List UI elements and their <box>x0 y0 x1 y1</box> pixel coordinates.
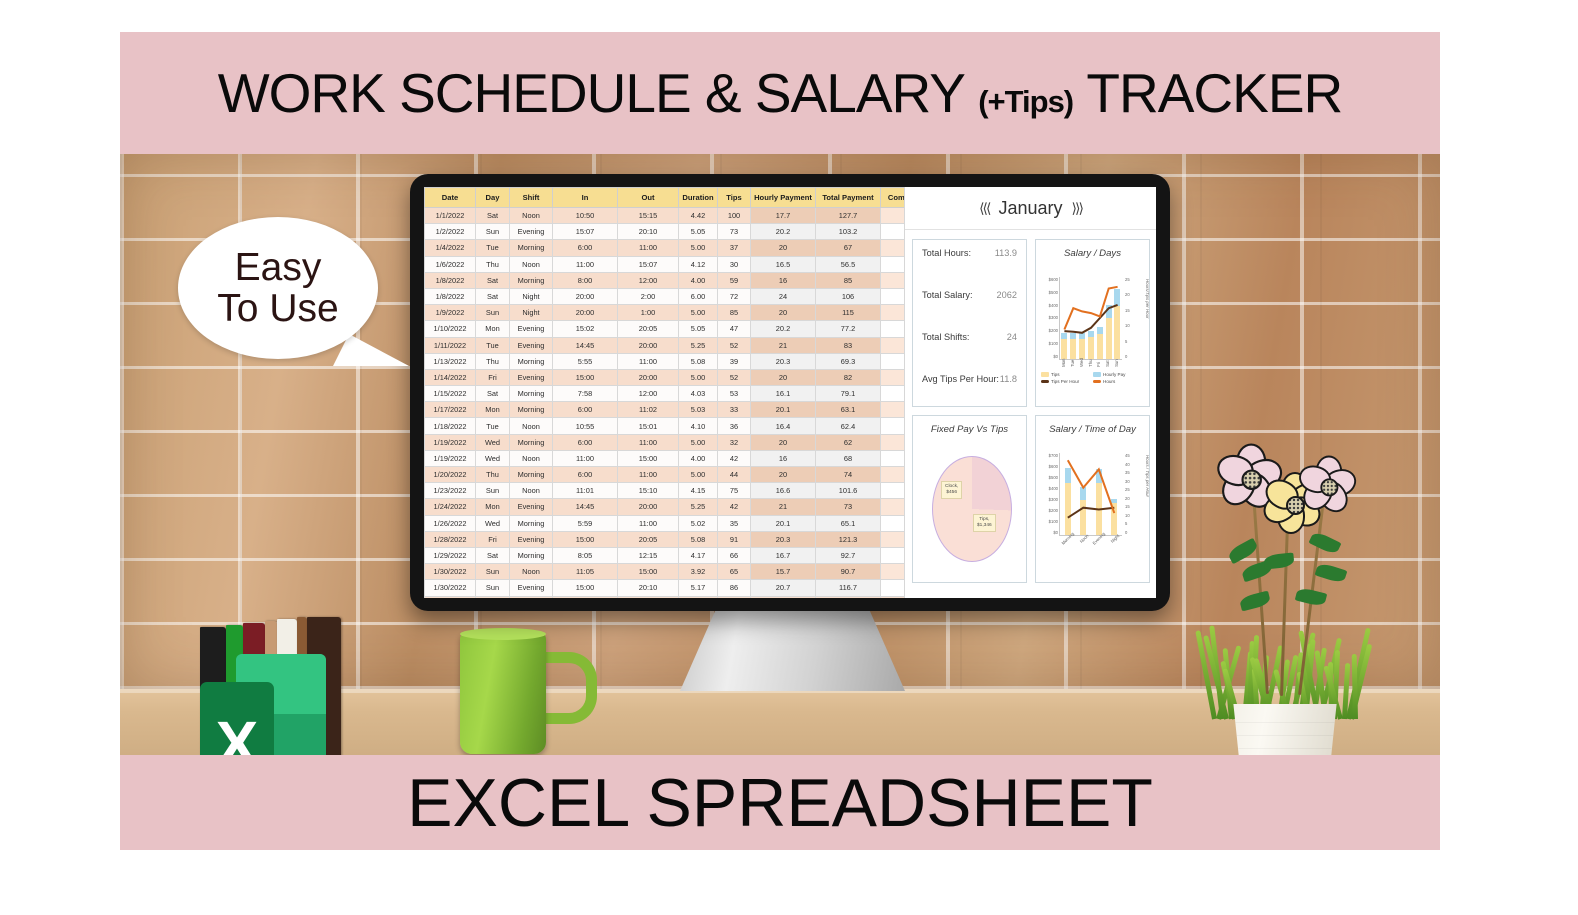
cell-in[interactable]: 14:45 <box>553 499 618 515</box>
cell-date[interactable]: 1/15/2022 <box>425 386 476 402</box>
cell-total-payment[interactable]: 69.3 <box>816 353 881 369</box>
cell-date[interactable]: 1/8/2022 <box>425 288 476 304</box>
table-row[interactable]: 1/20/2022ThuMorning6:0011:005.00442074 <box>425 467 935 483</box>
y2-tick: 15 <box>1125 504 1130 509</box>
cell-in[interactable]: 6:00 <box>553 240 618 256</box>
cell-shift[interactable]: Morning <box>510 467 553 483</box>
line-series <box>1060 453 1122 535</box>
legend-label: Hours <box>1103 379 1115 384</box>
cell-tips[interactable]: 42 <box>718 450 751 466</box>
cell-duration[interactable]: 4.10 <box>679 418 718 434</box>
table-row[interactable]: 1/26/2022WedMorning5:5911:005.023520.165… <box>425 515 935 531</box>
cell-date[interactable]: 1/10/2022 <box>425 321 476 337</box>
footer-cell[interactable]: 0 <box>718 596 751 598</box>
cell-duration[interactable]: 5.25 <box>679 337 718 353</box>
table-row[interactable]: 1/8/2022SatNight20:002:006.007224106 <box>425 288 935 304</box>
cell-hourly-payment[interactable]: 16.4 <box>751 418 816 434</box>
cell-day[interactable]: Sat <box>476 288 510 304</box>
cell-total-payment[interactable]: 56.5 <box>816 256 881 272</box>
cell-shift[interactable]: Noon <box>510 450 553 466</box>
cell-duration[interactable]: 6.00 <box>679 288 718 304</box>
cell-hourly-payment[interactable]: 16.7 <box>751 547 816 563</box>
x-tick: Sat <box>1105 358 1110 367</box>
cell-tips[interactable]: 33 <box>718 402 751 418</box>
cell-in[interactable]: 20:00 <box>553 288 618 304</box>
cell-in[interactable]: 11:00 <box>553 256 618 272</box>
cell-hourly-payment[interactable]: 17.7 <box>751 208 816 224</box>
cell-tips[interactable]: 59 <box>718 272 751 288</box>
footer-cell[interactable]: 0 <box>816 596 881 598</box>
table-row[interactable]: 1/29/2022SatMorning8:0512:154.176616.792… <box>425 547 935 563</box>
stat-total-shifts: Total Shifts: 24 <box>913 332 1026 374</box>
cell-shift[interactable]: Evening <box>510 580 553 596</box>
cell-date[interactable]: 1/2/2022 <box>425 224 476 240</box>
cell-day[interactable]: Sun <box>476 305 510 321</box>
cell-date[interactable]: 1/30/2022 <box>425 564 476 580</box>
cell-in[interactable]: 8:05 <box>553 547 618 563</box>
y-tick: $0 <box>1053 354 1058 359</box>
cell-shift[interactable]: Morning <box>510 402 553 418</box>
next-month-icon[interactable]: ⟩⟩⟩ <box>1072 200 1082 217</box>
cell-total-payment[interactable]: 73 <box>816 499 881 515</box>
cell-date[interactable]: 1/24/2022 <box>425 499 476 515</box>
cell-tips[interactable]: 37 <box>718 240 751 256</box>
cell-date[interactable]: 1/17/2022 <box>425 402 476 418</box>
cell-date[interactable]: 1/30/2022 <box>425 580 476 596</box>
cell-total-payment[interactable]: 82 <box>816 369 881 385</box>
cell-hourly-payment[interactable]: 15.7 <box>751 564 816 580</box>
footer-cell[interactable] <box>425 596 476 598</box>
cell-total-payment[interactable]: 85 <box>816 272 881 288</box>
cell-out[interactable]: 2:00 <box>618 288 679 304</box>
cell-date[interactable]: 1/4/2022 <box>425 240 476 256</box>
cell-shift[interactable]: Morning <box>510 240 553 256</box>
cell-out[interactable]: 11:00 <box>618 467 679 483</box>
cell-date[interactable]: 1/19/2022 <box>425 434 476 450</box>
cell-duration[interactable]: 3.92 <box>679 564 718 580</box>
cell-in[interactable]: 8:00 <box>553 272 618 288</box>
cell-hourly-payment[interactable]: 24 <box>751 288 816 304</box>
cell-out[interactable]: 12:00 <box>618 272 679 288</box>
cell-hourly-payment[interactable]: 20 <box>751 305 816 321</box>
cell-total-payment[interactable]: 127.7 <box>816 208 881 224</box>
cell-duration[interactable]: 5.05 <box>679 224 718 240</box>
cell-tips[interactable]: 52 <box>718 369 751 385</box>
mug-rim <box>460 628 546 640</box>
cell-out[interactable]: 12:15 <box>618 547 679 563</box>
cell-duration[interactable]: 5.08 <box>679 531 718 547</box>
y-tick: $500 <box>1049 290 1058 295</box>
stat-label: Total Shifts: <box>922 332 970 342</box>
y-tick: $400 <box>1049 486 1058 491</box>
cell-in[interactable]: 15:07 <box>553 224 618 240</box>
cell-in[interactable]: 20:00 <box>553 305 618 321</box>
cell-total-payment[interactable]: 101.6 <box>816 483 881 499</box>
cell-out[interactable]: 20:10 <box>618 580 679 596</box>
legend-item: Hours <box>1093 379 1141 384</box>
cell-duration[interactable]: 4.42 <box>679 208 718 224</box>
cell-out[interactable]: 20:00 <box>618 337 679 353</box>
y-tick: $100 <box>1049 519 1058 524</box>
cell-total-payment[interactable]: 103.2 <box>816 224 881 240</box>
cell-hourly-payment[interactable]: 16 <box>751 450 816 466</box>
cell-shift[interactable]: Evening <box>510 337 553 353</box>
cell-duration[interactable]: 5.08 <box>679 353 718 369</box>
cell-shift[interactable]: Morning <box>510 547 553 563</box>
cell-in[interactable]: 15:00 <box>553 369 618 385</box>
cell-date[interactable]: 1/8/2022 <box>425 272 476 288</box>
cell-total-payment[interactable]: 62 <box>816 434 881 450</box>
cell-day[interactable]: Sun <box>476 580 510 596</box>
footer-cell[interactable]: Fill Date <box>476 596 510 598</box>
excel-logo: X <box>200 654 326 755</box>
table-row[interactable]: 1/14/2022FriEvening15:0020:005.00522082 <box>425 369 935 385</box>
cell-duration[interactable]: 4.15 <box>679 483 718 499</box>
cell-total-payment[interactable]: 67 <box>816 240 881 256</box>
spreadsheet-grid[interactable]: Date Day Shift In Out Duration Tips Hour… <box>424 187 904 598</box>
cell-in[interactable]: 6:00 <box>553 434 618 450</box>
cell-shift[interactable]: Night <box>510 305 553 321</box>
cell-total-payment[interactable]: 92.7 <box>816 547 881 563</box>
plot-area <box>1059 277 1122 360</box>
table-row[interactable]: 1/30/2022SunEvening15:0020:105.178620.71… <box>425 580 935 596</box>
footer-cell[interactable] <box>618 596 679 598</box>
cell-day[interactable]: Wed <box>476 515 510 531</box>
cell-date[interactable]: 1/28/2022 <box>425 531 476 547</box>
cell-hourly-payment[interactable]: 21 <box>751 337 816 353</box>
cell-duration[interactable]: 5.03 <box>679 402 718 418</box>
cell-in[interactable]: 11:00 <box>553 450 618 466</box>
cell-hourly-payment[interactable]: 21 <box>751 499 816 515</box>
col-shift[interactable]: Shift <box>510 188 553 208</box>
table-row[interactable]: 1/1/2022SatNoon10:5015:154.4210017.7127.… <box>425 208 935 224</box>
cell-hourly-payment[interactable]: 20.3 <box>751 353 816 369</box>
cell-tips[interactable]: 42 <box>718 499 751 515</box>
cell-day[interactable]: Thu <box>476 467 510 483</box>
cell-in[interactable]: 5:55 <box>553 353 618 369</box>
cell-hourly-payment[interactable]: 20 <box>751 467 816 483</box>
cell-hourly-payment[interactable]: 20.2 <box>751 224 816 240</box>
table-row[interactable]: 1/9/2022SunNight20:001:005.008520115 <box>425 305 935 321</box>
cell-date[interactable]: 1/14/2022 <box>425 369 476 385</box>
cell-out[interactable]: 11:00 <box>618 434 679 450</box>
table-row[interactable]: 1/28/2022FriEvening15:0020:055.089120.31… <box>425 531 935 547</box>
cell-duration[interactable]: 5.02 <box>679 515 718 531</box>
cell-in[interactable]: 15:02 <box>553 321 618 337</box>
table-row[interactable]: 1/10/2022MonEvening15:0220:055.054720.27… <box>425 321 935 337</box>
footer-cell[interactable]: 0 <box>751 596 816 598</box>
cell-shift[interactable]: Evening <box>510 531 553 547</box>
cell-out[interactable]: 15:00 <box>618 450 679 466</box>
cell-total-payment[interactable]: 83 <box>816 337 881 353</box>
cell-hourly-payment[interactable]: 16.1 <box>751 386 816 402</box>
cell-shift[interactable]: Evening <box>510 369 553 385</box>
cell-hourly-payment[interactable]: 20 <box>751 369 816 385</box>
cell-in[interactable]: 7:58 <box>553 386 618 402</box>
legend-swatch <box>1041 372 1049 377</box>
legend-label: Tips Per Hour <box>1051 379 1079 384</box>
cell-shift[interactable]: Noon <box>510 208 553 224</box>
cell-day[interactable]: Tue <box>476 240 510 256</box>
cell-total-payment[interactable]: 79.1 <box>816 386 881 402</box>
bottom-banner: EXCEL SPREADSHEET <box>120 755 1440 850</box>
cell-total-payment[interactable]: 63.1 <box>816 402 881 418</box>
cell-tips[interactable]: 66 <box>718 547 751 563</box>
cell-date[interactable]: 1/1/2022 <box>425 208 476 224</box>
cell-shift[interactable]: Morning <box>510 353 553 369</box>
table-row[interactable]: 1/17/2022MonMorning6:0011:025.033320.163… <box>425 402 935 418</box>
y-tick: $100 <box>1049 341 1058 346</box>
table-body[interactable]: 1/1/2022SatNoon10:5015:154.4210017.7127.… <box>425 208 935 599</box>
col-hourly-payment[interactable]: Hourly Payment <box>751 188 816 208</box>
cell-hourly-payment[interactable]: 20.1 <box>751 515 816 531</box>
cell-date[interactable]: 1/20/2022 <box>425 467 476 483</box>
cell-shift[interactable]: Noon <box>510 564 553 580</box>
cell-shift[interactable]: Evening <box>510 499 553 515</box>
y-tick: $300 <box>1049 315 1058 320</box>
cell-hourly-payment[interactable]: 16.6 <box>751 483 816 499</box>
easy-to-use-badge: Easy To Use <box>178 217 378 359</box>
cell-day[interactable]: Thu <box>476 353 510 369</box>
pie-chart: Clock,$456 Tips,$1,346 <box>913 435 1027 565</box>
cell-day[interactable]: Sat <box>476 272 510 288</box>
cell-out[interactable]: 20:10 <box>618 224 679 240</box>
col-in[interactable]: In <box>553 188 618 208</box>
cell-day[interactable]: Fri <box>476 531 510 547</box>
line-series <box>1060 277 1122 359</box>
cell-out[interactable]: 11:00 <box>618 353 679 369</box>
cell-in[interactable]: 5:59 <box>553 515 618 531</box>
cell-shift[interactable]: Morning <box>510 386 553 402</box>
cell-shift[interactable]: Noon <box>510 483 553 499</box>
cell-out[interactable]: 15:15 <box>618 208 679 224</box>
cell-out[interactable]: 20:05 <box>618 531 679 547</box>
cell-date[interactable]: 1/29/2022 <box>425 547 476 563</box>
col-tips[interactable]: Tips <box>718 188 751 208</box>
cell-total-payment[interactable]: 65.1 <box>816 515 881 531</box>
salary-days-chart-card: Salary / Days $600$500$400$300$200$100$0… <box>1035 239 1150 407</box>
badge-line-2: To Use <box>217 288 338 329</box>
cell-hourly-payment[interactable]: 20 <box>751 240 816 256</box>
col-day[interactable]: Day <box>476 188 510 208</box>
cell-date[interactable]: 1/19/2022 <box>425 450 476 466</box>
cell-duration[interactable]: 5.00 <box>679 369 718 385</box>
cell-day[interactable]: Mon <box>476 321 510 337</box>
cell-tips[interactable]: 91 <box>718 531 751 547</box>
cell-out[interactable]: 20:05 <box>618 321 679 337</box>
cell-date[interactable]: 1/23/2022 <box>425 483 476 499</box>
cell-tips[interactable]: 72 <box>718 288 751 304</box>
cell-shift[interactable]: Morning <box>510 515 553 531</box>
cell-out[interactable]: 20:00 <box>618 369 679 385</box>
cell-in[interactable]: 15:00 <box>553 531 618 547</box>
cell-duration[interactable]: 5.17 <box>679 580 718 596</box>
table-row[interactable]: 1/30/2022SunNoon11:0515:003.926515.790.7 <box>425 564 935 580</box>
table-row[interactable]: 1/6/2022ThuNoon11:0015:074.123016.556.5 <box>425 256 935 272</box>
cell-tips[interactable]: 53 <box>718 386 751 402</box>
monitor: Date Day Shift In Out Duration Tips Hour… <box>410 174 1170 611</box>
table-row[interactable]: 1/8/2022SatMorning8:0012:004.00591685 <box>425 272 935 288</box>
cell-in[interactable]: 6:00 <box>553 467 618 483</box>
col-total-payment[interactable]: Total Payment <box>816 188 881 208</box>
table-row[interactable]: 1/4/2022TueMorning6:0011:005.00372067 <box>425 240 935 256</box>
table-row[interactable]: 1/11/2022TueEvening14:4520:005.25522183 <box>425 337 935 353</box>
cell-tips[interactable]: 100 <box>718 208 751 224</box>
cell-tips[interactable]: 86 <box>718 580 751 596</box>
cell-in[interactable]: 11:01 <box>553 483 618 499</box>
cell-out[interactable]: 15:00 <box>618 564 679 580</box>
col-out[interactable]: Out <box>618 188 679 208</box>
y2-tick: 45 <box>1125 453 1130 458</box>
cell-tips[interactable]: 85 <box>718 305 751 321</box>
cell-hourly-payment[interactable]: 20.2 <box>751 321 816 337</box>
cell-out[interactable]: 11:00 <box>618 240 679 256</box>
cell-day[interactable]: Sat <box>476 547 510 563</box>
col-duration[interactable]: Duration <box>679 188 718 208</box>
cell-total-payment[interactable]: 77.2 <box>816 321 881 337</box>
table-row[interactable]: 1/18/2022TueNoon10:5515:014.103616.462.4 <box>425 418 935 434</box>
cell-duration[interactable]: 5.00 <box>679 240 718 256</box>
cell-tips[interactable]: 47 <box>718 321 751 337</box>
cell-in[interactable]: 14:45 <box>553 337 618 353</box>
dashboard-panel: ⟨⟨⟨ January ⟩⟩⟩ Total Hours: 113.9 <box>904 187 1156 598</box>
cell-duration[interactable]: 4.12 <box>679 256 718 272</box>
cell-day[interactable]: Thu <box>476 256 510 272</box>
cell-total-payment[interactable]: 90.7 <box>816 564 881 580</box>
table-row[interactable]: 1/15/2022SatMorning7:5812:004.035316.179… <box>425 386 935 402</box>
cell-duration[interactable]: 5.00 <box>679 434 718 450</box>
cell-total-payment[interactable]: 68 <box>816 450 881 466</box>
footer-cell[interactable] <box>553 596 618 598</box>
cell-total-payment[interactable]: 116.7 <box>816 580 881 596</box>
cell-out[interactable]: 20:00 <box>618 499 679 515</box>
cell-day[interactable]: Tue <box>476 418 510 434</box>
cell-hourly-payment[interactable]: 16 <box>751 272 816 288</box>
fill-date-row[interactable]: Fill Date0.00000 <box>425 596 935 598</box>
cell-day[interactable]: Mon <box>476 499 510 515</box>
cell-tips[interactable]: 44 <box>718 467 751 483</box>
cell-duration[interactable]: 5.00 <box>679 467 718 483</box>
schedule-table[interactable]: Date Day Shift In Out Duration Tips Hour… <box>424 187 935 598</box>
cell-duration[interactable]: 4.17 <box>679 547 718 563</box>
cell-out[interactable]: 15:01 <box>618 418 679 434</box>
cell-shift[interactable]: Morning <box>510 272 553 288</box>
cell-date[interactable]: 1/9/2022 <box>425 305 476 321</box>
cell-day[interactable]: Tue <box>476 337 510 353</box>
cell-in[interactable]: 10:55 <box>553 418 618 434</box>
cell-date[interactable]: 1/26/2022 <box>425 515 476 531</box>
cell-shift[interactable]: Noon <box>510 418 553 434</box>
footer-cell[interactable]: 0.00 <box>679 596 718 598</box>
cell-total-payment[interactable]: 115 <box>816 305 881 321</box>
cell-day[interactable]: Wed <box>476 450 510 466</box>
cell-tips[interactable]: 52 <box>718 337 751 353</box>
cell-tips[interactable]: 65 <box>718 564 751 580</box>
cell-out[interactable]: 15:07 <box>618 256 679 272</box>
stat-avg-tips-per-hour: Avg Tips Per Hour: 11.8 <box>913 374 1026 407</box>
product-listing-image: WORK SCHEDULE & SALARY (+Tips) TRACKER <box>0 0 1578 915</box>
cell-duration[interactable]: 4.00 <box>679 272 718 288</box>
cell-shift[interactable]: Morning <box>510 434 553 450</box>
cell-day[interactable]: Sat <box>476 208 510 224</box>
cell-tips[interactable]: 32 <box>718 434 751 450</box>
cell-day[interactable]: Mon <box>476 402 510 418</box>
cell-shift[interactable]: Night <box>510 288 553 304</box>
col-date[interactable]: Date <box>425 188 476 208</box>
cell-hourly-payment[interactable]: 20.3 <box>751 531 816 547</box>
cell-day[interactable]: Sat <box>476 386 510 402</box>
cell-hourly-payment[interactable]: 20 <box>751 434 816 450</box>
stat-total-hours: Total Hours: 113.9 <box>913 248 1026 290</box>
table-row[interactable]: 1/2/2022SunEvening15:0720:105.057320.210… <box>425 224 935 240</box>
cell-out[interactable]: 11:02 <box>618 402 679 418</box>
table-row[interactable]: 1/23/2022SunNoon11:0115:104.157516.6101.… <box>425 483 935 499</box>
cell-day[interactable]: Sun <box>476 224 510 240</box>
x-tick: Wed <box>1079 358 1084 367</box>
cell-duration[interactable]: 5.00 <box>679 305 718 321</box>
cell-total-payment[interactable]: 74 <box>816 467 881 483</box>
cell-in[interactable]: 6:00 <box>553 402 618 418</box>
cell-tips[interactable]: 36 <box>718 418 751 434</box>
cell-day[interactable]: Fri <box>476 369 510 385</box>
cell-in[interactable]: 11:05 <box>553 564 618 580</box>
cell-in[interactable]: 10:50 <box>553 208 618 224</box>
cell-tips[interactable]: 35 <box>718 515 751 531</box>
cell-duration[interactable]: 5.05 <box>679 321 718 337</box>
cell-date[interactable]: 1/13/2022 <box>425 353 476 369</box>
cell-hourly-payment[interactable]: 20.7 <box>751 580 816 596</box>
cell-tips[interactable]: 39 <box>718 353 751 369</box>
cell-duration[interactable]: 4.03 <box>679 386 718 402</box>
cell-tips[interactable]: 30 <box>718 256 751 272</box>
cell-shift[interactable]: Noon <box>510 256 553 272</box>
cell-in[interactable]: 15:00 <box>553 580 618 596</box>
title-sub: (+Tips) <box>978 84 1073 119</box>
cell-total-payment[interactable]: 121.3 <box>816 531 881 547</box>
cell-day[interactable]: Sun <box>476 483 510 499</box>
table-row[interactable]: 1/19/2022WedNoon11:0015:004.00421668 <box>425 450 935 466</box>
cell-total-payment[interactable]: 106 <box>816 288 881 304</box>
table-row[interactable]: 1/24/2022MonEvening14:4520:005.25422173 <box>425 499 935 515</box>
cell-date[interactable]: 1/11/2022 <box>425 337 476 353</box>
cell-hourly-payment[interactable]: 20.1 <box>751 402 816 418</box>
badge-line-1: Easy <box>235 247 322 288</box>
cell-hourly-payment[interactable]: 16.5 <box>751 256 816 272</box>
cell-shift[interactable]: Evening <box>510 321 553 337</box>
cell-date[interactable]: 1/18/2022 <box>425 418 476 434</box>
cell-shift[interactable]: Evening <box>510 224 553 240</box>
cell-total-payment[interactable]: 62.4 <box>816 418 881 434</box>
x-tick: Sun <box>1114 358 1119 367</box>
cell-out[interactable]: 1:00 <box>618 305 679 321</box>
cell-out[interactable]: 11:00 <box>618 515 679 531</box>
cell-day[interactable]: Wed <box>476 434 510 450</box>
table-row[interactable]: 1/19/2022WedMorning6:0011:005.00322062 <box>425 434 935 450</box>
cell-tips[interactable]: 73 <box>718 224 751 240</box>
prev-month-icon[interactable]: ⟨⟨⟨ <box>979 200 989 217</box>
y2-tick: 10 <box>1125 513 1130 518</box>
cell-out[interactable]: 15:10 <box>618 483 679 499</box>
cell-duration[interactable]: 4.00 <box>679 450 718 466</box>
cell-day[interactable]: Sun <box>476 564 510 580</box>
footer-cell[interactable] <box>510 596 553 598</box>
cell-date[interactable]: 1/6/2022 <box>425 256 476 272</box>
cell-duration[interactable]: 5.25 <box>679 499 718 515</box>
y2-tick: 0 <box>1125 530 1127 535</box>
table-row[interactable]: 1/13/2022ThuMorning5:5511:005.083920.369… <box>425 353 935 369</box>
cell-tips[interactable]: 75 <box>718 483 751 499</box>
cell-out[interactable]: 12:00 <box>618 386 679 402</box>
